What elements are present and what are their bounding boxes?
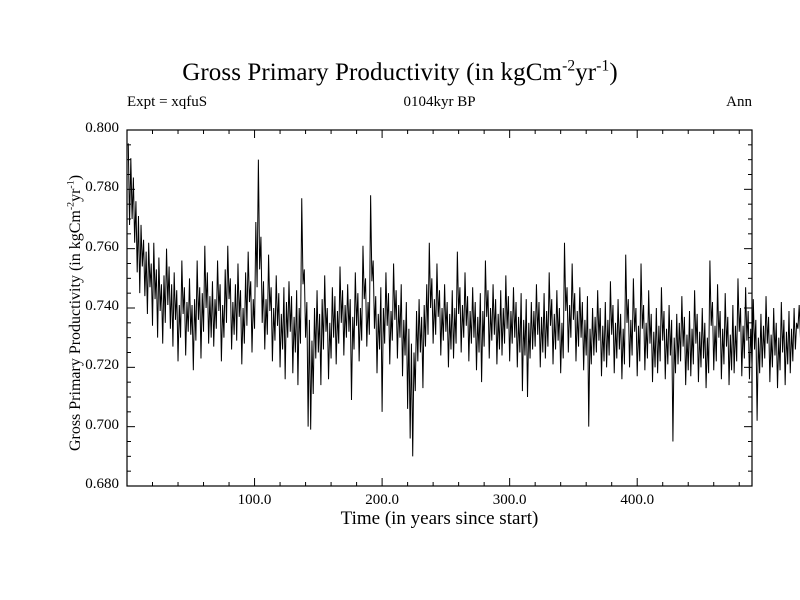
y-axis-title-main: Gross Primary Productivity (in kgCm — [67, 210, 84, 451]
data-series-line — [128, 143, 800, 456]
x-axis-title: Time (in years since start) — [127, 508, 752, 530]
y-axis-title-mid: yr — [67, 189, 84, 202]
x-tick-label: 200.0 — [347, 492, 417, 509]
chart-root: Gross Primary Productivity (in kgCm-2yr-… — [0, 0, 800, 600]
y-axis-title: Gross Primary Productivity (in kgCm-2yr-… — [67, 133, 85, 493]
x-tick-label: 100.0 — [220, 492, 290, 509]
x-tick-label: 400.0 — [602, 492, 672, 509]
y-axis-title-sup2: -1 — [66, 180, 77, 188]
y-axis-title-sup1: -2 — [66, 202, 77, 210]
x-tick-label: 300.0 — [475, 492, 545, 509]
y-axis-title-tail: ) — [67, 175, 84, 180]
